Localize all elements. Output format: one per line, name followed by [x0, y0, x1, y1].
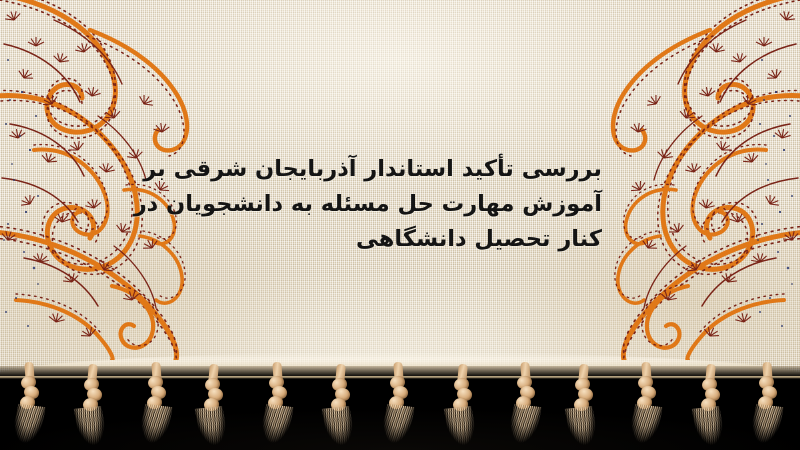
headline-title: بررسی تأکید استاندار آذربایجان شرقی بر آ… [190, 152, 602, 257]
fabric-hem-shadow [0, 366, 800, 376]
banner-image: بررسی تأکید استاندار آذربایجان شرقی بر آ… [0, 0, 800, 450]
navy-speckle-accent-right [754, 40, 800, 340]
headline-line-3: کنار تحصیل دانشگاهی [190, 222, 602, 257]
headline-line-1: بررسی تأکید استاندار آذربایجان شرقی بر [190, 152, 602, 187]
backdrop-black-field [0, 372, 800, 450]
navy-speckle-accent-left [0, 40, 46, 340]
headline-line-2: آموزش مهارت حل مسئله به دانشجویان در [190, 187, 602, 222]
